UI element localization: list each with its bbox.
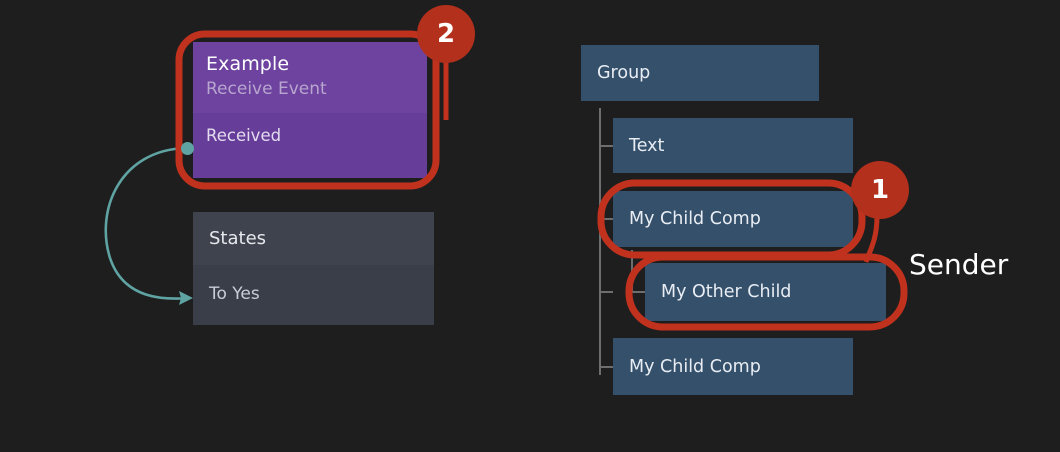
step-badge-1: 1 [851,161,909,219]
tree-node-my-child-comp-1[interactable]: My Child Comp [613,191,853,247]
receive-event-port-label: Received [206,125,427,147]
receive-event-card-subtitle: Receive Event [206,77,427,102]
receive-event-card-title: Example [206,51,427,77]
states-panel-body: To Yes [193,265,434,325]
receive-event-card-body: Received [193,113,427,178]
connector-lines-layer [0,0,1060,452]
step-badge-2: 2 [417,5,475,63]
arrowhead-icon [179,291,193,305]
states-panel-header: States [193,212,434,265]
sender-caption: Sender [909,248,1008,282]
tree-spine-depth2 [632,250,645,292]
states-panel-row[interactable]: To Yes [209,283,434,306]
tree-spine-depth1 [600,108,613,375]
tree-node-group[interactable]: Group [581,45,819,101]
tree-node-my-child-comp-2[interactable]: My Child Comp [613,338,853,395]
states-panel[interactable]: States To Yes [193,212,434,325]
diagram-canvas: Example Receive Event Received States To… [0,0,1060,452]
tree-node-my-other-child[interactable]: My Other Child [645,263,886,321]
receive-event-card[interactable]: Example Receive Event Received [193,42,427,178]
receive-event-card-header: Example Receive Event [193,42,427,113]
tree-node-text[interactable]: Text [613,118,853,173]
badge-1-stem [866,216,877,262]
annotation-overlay-layer [0,0,1060,452]
states-panel-title: States [209,226,434,251]
received-to-toyes-curve [106,148,190,299]
connection-dot-icon[interactable] [181,142,194,155]
